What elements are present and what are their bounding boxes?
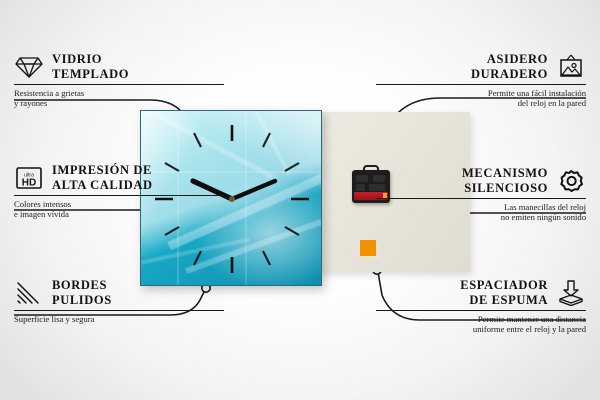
- feature-title-line1: ESPACIADOR: [460, 278, 548, 293]
- feature-impresion-alta-calidad: ultra HD IMPRESIÓN DE ALTA CALIDAD Color…: [14, 163, 224, 220]
- feature-desc-line2: no emiten ningún sonido: [376, 212, 586, 222]
- feature-desc-line1: Las manecillas del reloj: [376, 202, 586, 212]
- gear-icon: [556, 168, 586, 194]
- clock-minute-hand: [232, 181, 275, 199]
- feature-vidrio-templado: VIDRIO TEMPLADO Resistencia a grietas y …: [14, 52, 224, 109]
- hanging-frame-icon: [556, 54, 586, 80]
- infographic-canvas: VIDRIO TEMPLADO Resistencia a grietas y …: [0, 0, 600, 400]
- feature-title-line2: TEMPLADO: [52, 67, 129, 82]
- feature-desc-line2: e imagen vívida: [14, 209, 224, 219]
- foam-spacer-piece: [360, 240, 376, 256]
- feature-title-line2: PULIDOS: [52, 293, 112, 308]
- feature-title-line1: MECANISMO: [462, 166, 548, 181]
- feature-desc-line1: Colores intensos: [14, 199, 224, 209]
- feature-desc-line2: uniforme entre el reloj y la pared: [376, 324, 586, 334]
- ultra-hd-icon: ultra HD: [14, 165, 44, 191]
- feature-title-line1: BORDES: [52, 278, 112, 293]
- feature-rule: [376, 198, 586, 199]
- feature-rule: [14, 195, 224, 196]
- svg-text:HD: HD: [22, 177, 36, 188]
- feature-title-line1: IMPRESIÓN DE: [52, 163, 153, 178]
- feature-title-line1: ASIDERO: [471, 52, 548, 67]
- foam-spacer-icon: [556, 280, 586, 306]
- feature-rule: [14, 84, 224, 85]
- feature-rule: [14, 310, 224, 311]
- feature-desc-line2: y rayones: [14, 98, 224, 108]
- feature-title-line2: DURADERO: [471, 67, 548, 82]
- feature-desc-line1: Superficie lisa y segura: [14, 314, 224, 324]
- feature-asidero-duradero: ASIDERO DURADERO Permite una fácil insta…: [376, 52, 586, 109]
- feature-title-line2: ALTA CALIDAD: [52, 178, 153, 193]
- diamond-icon: [14, 54, 44, 80]
- polished-edges-icon: [14, 280, 44, 306]
- feature-desc-line1: Permite mantener una distancia: [376, 314, 586, 324]
- feature-espaciador-de-espuma: ESPACIADOR DE ESPUMA Permite mantener un…: [376, 278, 586, 335]
- feature-mecanismo-silencioso: MECANISMO SILENCIOSO Las manecillas del …: [376, 166, 586, 223]
- feature-desc-line1: Permite una fácil instalación: [376, 88, 586, 98]
- feature-title-line1: VIDRIO: [52, 52, 129, 67]
- feature-title-line2: DE ESPUMA: [460, 293, 548, 308]
- feature-desc-line1: Resistencia a grietas: [14, 88, 224, 98]
- feature-title-line2: SILENCIOSO: [462, 181, 548, 196]
- feature-desc-line2: del reloj en la pared: [376, 98, 586, 108]
- feature-bordes-pulidos: BORDES PULIDOS Superficie lisa y segura: [14, 278, 224, 324]
- feature-rule: [376, 310, 586, 311]
- clock-pivot: [229, 196, 235, 202]
- feature-rule: [376, 84, 586, 85]
